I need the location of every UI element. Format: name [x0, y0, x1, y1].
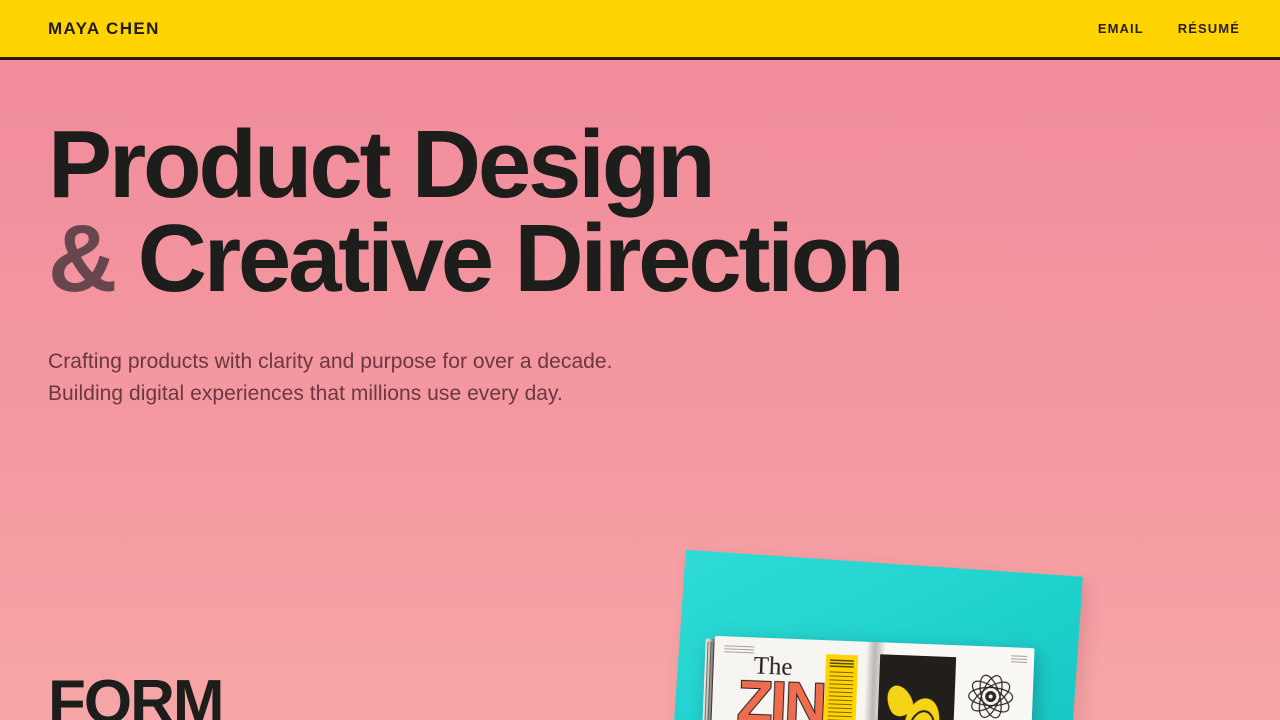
page-folio: [1011, 655, 1027, 663]
hero-subtitle-line-2: Building digital experiences that millio…: [48, 378, 948, 410]
magazine-right-page: [869, 642, 1034, 720]
masthead-tag: [724, 645, 754, 655]
hero-title-line-2-text: Creative Direction: [138, 205, 902, 312]
primary-nav: EMAIL RÉSUMÉ: [1098, 21, 1240, 36]
brand-name[interactable]: MAYA CHEN: [48, 19, 160, 39]
black-art-panel: [876, 654, 957, 720]
hero-title-line-2: & Creative Direction: [48, 212, 948, 306]
magazine-title: ZIN: [736, 673, 826, 720]
page-title: Product Design & Creative Direction: [48, 118, 948, 306]
hero-title-line-1: Product Design: [48, 118, 948, 212]
hero-ampersand: &: [48, 205, 114, 312]
open-magazine: The ZIN: [709, 636, 1034, 720]
atom-diagram-icon: [964, 670, 1018, 720]
site-header: MAYA CHEN EMAIL RÉSUMÉ: [0, 0, 1280, 60]
nav-link-resume[interactable]: RÉSUMÉ: [1178, 21, 1240, 36]
hero-section: Product Design & Creative Direction Craf…: [48, 118, 948, 410]
nav-link-email[interactable]: EMAIL: [1098, 21, 1144, 36]
portfolio-photo[interactable]: The ZIN: [640, 545, 1160, 720]
hero-subtitle: Crafting products with clarity and purpo…: [48, 346, 948, 410]
section-heading-form: FORM: [48, 672, 223, 720]
hero-subtitle-line-1: Crafting products with clarity and purpo…: [48, 346, 948, 378]
magazine-left-page: The ZIN: [709, 636, 874, 720]
yellow-sidebar-column: [822, 654, 858, 720]
